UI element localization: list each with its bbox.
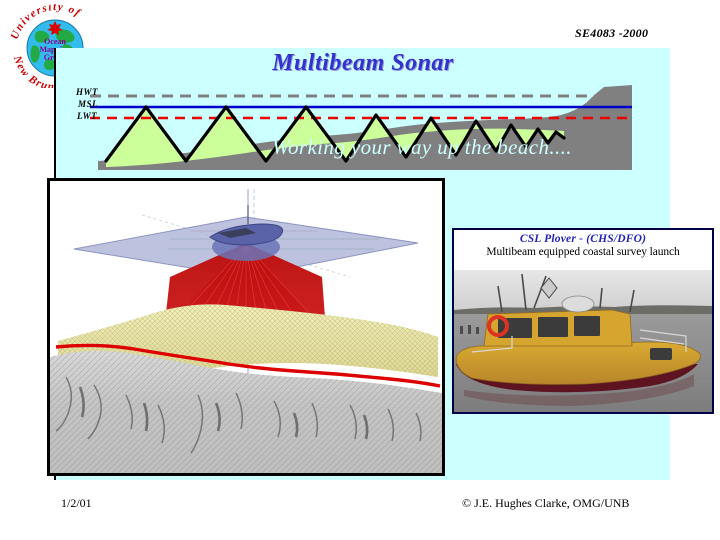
3d-bathymetry-visualisation <box>47 178 445 476</box>
slide-date: 1/2/01 <box>61 496 92 511</box>
page-title: Multibeam Sonar <box>56 50 670 77</box>
photo-subtitle: Multibeam equipped coastal survey launch <box>454 246 712 258</box>
tide-label-hwt: HWT <box>76 87 98 97</box>
slide-subtitle: Working your way up the beach.... <box>272 135 572 160</box>
slide-copyright: © J.E. Hughes Clarke, OMG/UNB <box>462 496 629 511</box>
photo-caption-block: CSL Plover - (CHS/DFO) Multibeam equippe… <box>454 230 712 270</box>
photo-radar-dome <box>562 296 594 312</box>
tide-label-msl: MSL <box>78 99 98 109</box>
tide-label-lwt: LWT <box>77 111 97 121</box>
course-code-label: SE4083 -2000 <box>575 26 648 41</box>
photo-title: CSL Plover - (CHS/DFO) <box>454 233 712 245</box>
vessel-photograph <box>454 268 712 412</box>
vessel-photo-panel: CSL Plover - (CHS/DFO) Multibeam equippe… <box>452 228 714 414</box>
